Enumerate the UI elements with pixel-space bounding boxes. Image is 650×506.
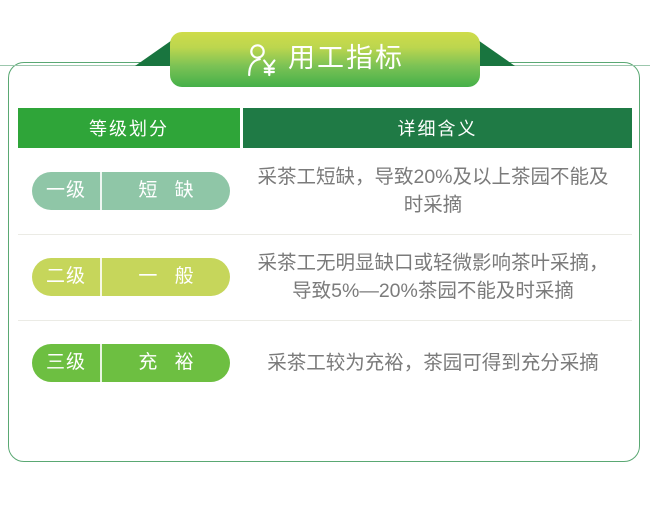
status-badge: 一级 短 缺 [32, 172, 230, 210]
badge-status-label: 充 裕 [102, 344, 230, 382]
level-cell: 一级 短 缺 [18, 172, 240, 210]
meaning-cell: 采茶工较为充裕，茶园可得到充分采摘 [240, 349, 632, 377]
ribbon-tail-left [135, 38, 175, 66]
header-ribbon: 用工指标 [135, 32, 515, 87]
column-header-meaning: 详细含义 [243, 108, 632, 148]
table-row: 三级 充 裕 采茶工较为充裕，茶园可得到充分采摘 [18, 320, 632, 406]
level-cell: 三级 充 裕 [18, 344, 240, 382]
table-body: 一级 短 缺 采茶工短缺，导致20%及以上茶园不能及时采摘 二级 一 般 采茶工… [18, 148, 632, 406]
ribbon-tail-right [475, 38, 515, 66]
indicator-table: 等级划分 详细含义 一级 短 缺 采茶工短缺，导致20%及以上茶园不能及时采摘 … [18, 108, 632, 406]
table-row: 一级 短 缺 采茶工短缺，导致20%及以上茶园不能及时采摘 [18, 148, 632, 234]
meaning-cell: 采茶工短缺，导致20%及以上茶园不能及时采摘 [240, 163, 632, 220]
meaning-cell: 采茶工无明显缺口或轻微影响茶叶采摘，导致5%—20%茶园不能及时采摘 [240, 249, 632, 306]
level-cell: 二级 一 般 [18, 258, 240, 296]
ribbon-line-right [510, 65, 650, 66]
ribbon-line-left [0, 65, 140, 66]
person-yen-icon [246, 43, 276, 77]
status-badge: 二级 一 般 [32, 258, 230, 296]
badge-status-label: 短 缺 [102, 172, 230, 210]
status-badge: 三级 充 裕 [32, 344, 230, 382]
column-header-level: 等级划分 [18, 108, 240, 148]
table-header-row: 等级划分 详细含义 [18, 108, 632, 148]
ribbon-body: 用工指标 [170, 32, 480, 87]
badge-level-label: 一级 [32, 172, 102, 210]
page-title: 用工指标 [288, 45, 404, 74]
badge-level-label: 三级 [32, 344, 102, 382]
table-row: 二级 一 般 采茶工无明显缺口或轻微影响茶叶采摘，导致5%—20%茶园不能及时采… [18, 234, 632, 320]
badge-level-label: 二级 [32, 258, 102, 296]
badge-status-label: 一 般 [102, 258, 230, 296]
